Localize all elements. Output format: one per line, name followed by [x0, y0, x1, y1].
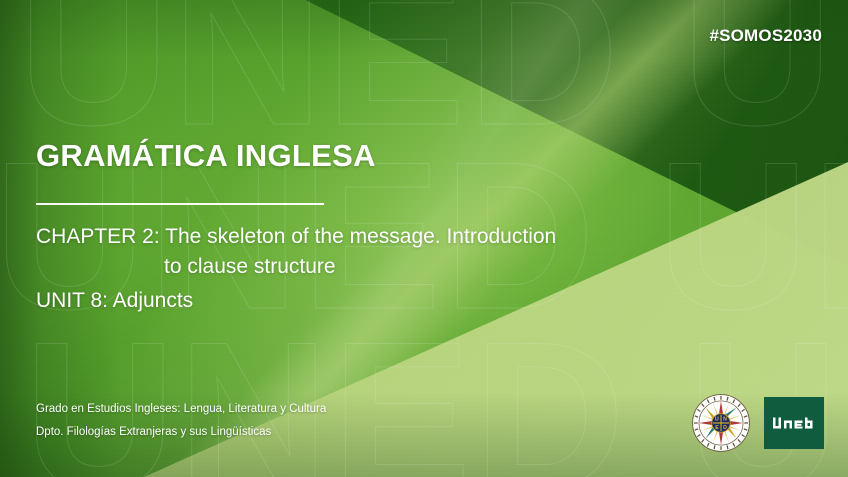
footer-department-line: Dpto. Filologías Extranjeras y sus Lingü…: [36, 421, 326, 445]
footer-block: Grado en Estudios Ingleses: Lengua, Lite…: [36, 398, 326, 445]
logo-group: U N E D: [692, 394, 824, 452]
uned-wordmark-icon: [772, 414, 816, 432]
svg-text:U: U: [715, 417, 719, 423]
uned-wordmark-logo: [764, 397, 824, 449]
uned-seal-icon: U N E D: [692, 394, 750, 452]
unit-line: UNIT 8: Adjuncts: [36, 286, 696, 316]
title-slide: UNED UNED UNED UNED UNED UNED #SOMOS2030…: [0, 0, 848, 477]
svg-text:E: E: [715, 425, 719, 431]
svg-text:D: D: [723, 425, 727, 431]
chapter-line-2: to clause structure: [36, 252, 696, 282]
chapter-line-1: CHAPTER 2: The skeleton of the message. …: [36, 222, 696, 252]
hashtag-label: #SOMOS2030: [709, 26, 822, 46]
svg-text:N: N: [723, 417, 727, 423]
title-divider: [36, 203, 324, 205]
footer-degree-line: Grado en Estudios Ingleses: Lengua, Lite…: [36, 398, 326, 422]
subtitle-block: CHAPTER 2: The skeleton of the message. …: [36, 222, 696, 315]
page-title: GRAMÁTICA INGLESA: [36, 138, 376, 174]
hashtag-somos2030: #SOMOS2030: [709, 26, 822, 46]
